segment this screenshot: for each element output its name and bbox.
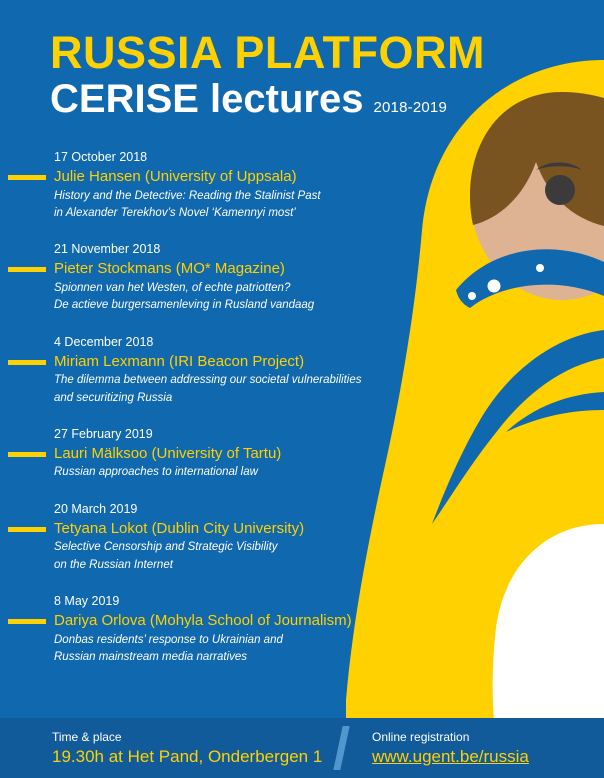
lecture-topic-line: Russian mainstream media narratives	[54, 649, 420, 665]
petal-dot	[488, 280, 501, 293]
doll-eyebrow	[536, 163, 582, 171]
doll-smile	[542, 268, 600, 286]
list-item: 17 October 2018 Julie Hansen (University…	[0, 148, 420, 221]
lecture-date: 21 November 2018	[54, 240, 420, 258]
lecture-speaker: Dariya Orlova (Mohyla School of Journali…	[54, 611, 420, 631]
lecture-list: 17 October 2018 Julie Hansen (University…	[0, 148, 420, 684]
poster: RUSSIA PLATFORM CERISE lectures 2018-201…	[0, 0, 604, 778]
page-title: RUSSIA PLATFORM	[50, 30, 470, 76]
footer-inner: Time & place 19.30h at Het Pand, Onderbe…	[0, 718, 604, 778]
list-item: 4 December 2018 Miriam Lexmann (IRI Beac…	[0, 333, 420, 406]
doll-shawl	[408, 428, 604, 720]
list-item: 8 May 2019 Dariya Orlova (Mohyla School …	[0, 592, 420, 665]
lecture-topic-line: Russian approaches to international law	[54, 464, 420, 480]
lecture-topic-line: in Alexander Terekhov’s Novel ‘Kamennyi …	[54, 205, 420, 221]
lecture-speaker-row: Tetyana Lokot (Dublin City University)	[54, 519, 420, 539]
lecture-topic-line: and securitizing Russia	[54, 390, 420, 406]
lecture-speaker: Tetyana Lokot (Dublin City University)	[54, 519, 420, 539]
bullet-dash-icon	[8, 175, 46, 180]
lecture-speaker-row: Pieter Stockmans (MO* Magazine)	[54, 259, 420, 279]
doll-scarf-edge	[454, 300, 604, 458]
lecture-topic-line: History and the Detective: Reading the S…	[54, 188, 420, 204]
lecture-speaker-row: Julie Hansen (University of Uppsala)	[54, 167, 420, 187]
time-place-label: Time & place	[52, 728, 322, 746]
list-item: 20 March 2019 Tetyana Lokot (Dublin City…	[0, 500, 420, 573]
bullet-dash-icon	[8, 360, 46, 365]
lecture-date: 17 October 2018	[54, 148, 420, 166]
poster-header: RUSSIA PLATFORM CERISE lectures 2018-201…	[50, 30, 470, 120]
petal-dot	[536, 264, 544, 272]
time-place-block: Time & place 19.30h at Het Pand, Onderbe…	[52, 728, 322, 769]
doll-eye	[545, 175, 575, 205]
page-subtitle: CERISE lectures	[50, 78, 363, 120]
bullet-dash-icon	[8, 267, 46, 272]
lecture-speaker: Miriam Lexmann (IRI Beacon Project)	[54, 352, 420, 372]
lecture-speaker: Julie Hansen (University of Uppsala)	[54, 167, 420, 187]
registration-label: Online registration	[372, 728, 529, 746]
lecture-date: 8 May 2019	[54, 592, 420, 610]
lecture-speaker: Pieter Stockmans (MO* Magazine)	[54, 259, 420, 279]
lecture-date: 4 December 2018	[54, 333, 420, 351]
doll-apron	[469, 498, 604, 720]
time-place-value: 19.30h at Het Pand, Onderbergen 1	[52, 746, 322, 769]
list-item: 21 November 2018 Pieter Stockmans (MO* M…	[0, 240, 420, 313]
bullet-dash-icon	[8, 619, 46, 624]
lecture-speaker: Lauri Mälksoo (University of Tartu)	[54, 444, 420, 464]
registration-block: Online registration www.ugent.be/russia	[372, 728, 529, 769]
doll-flower-motif	[432, 249, 604, 524]
bullet-dash-icon	[8, 527, 46, 532]
subtitle-row: CERISE lectures 2018-2019	[50, 78, 470, 120]
lecture-speaker-row: Lauri Mälksoo (University of Tartu)	[54, 444, 420, 464]
lecture-topic-line: Donbas residents’ response to Ukrainian …	[54, 632, 420, 648]
list-item: 27 February 2019 Lauri Mälksoo (Universi…	[0, 425, 420, 481]
lecture-speaker-row: Dariya Orlova (Mohyla School of Journali…	[54, 611, 420, 631]
lecture-topic-line: The dilemma between addressing our socie…	[54, 372, 420, 388]
lecture-topic-line: De actieve burgersamenleving in Rusland …	[54, 297, 420, 313]
bullet-dash-icon	[8, 452, 46, 457]
poster-footer: Time & place 19.30h at Het Pand, Onderbe…	[0, 718, 604, 778]
petal-dot	[468, 292, 476, 300]
registration-url[interactable]: www.ugent.be/russia	[372, 746, 529, 769]
lecture-topic-line: on the Russian Internet	[54, 557, 420, 573]
lecture-date: 20 March 2019	[54, 500, 420, 518]
academic-year-label: 2018-2019	[373, 99, 447, 116]
lecture-date: 27 February 2019	[54, 425, 420, 443]
doll-face	[470, 92, 604, 300]
lecture-topic-line: Spionnen van het Westen, of echte patrio…	[54, 280, 420, 296]
lecture-topic-line: Selective Censorship and Strategic Visib…	[54, 539, 420, 555]
lecture-speaker-row: Miriam Lexmann (IRI Beacon Project)	[54, 352, 420, 372]
divider-slash	[333, 726, 349, 770]
doll-collar-accent	[506, 392, 604, 432]
